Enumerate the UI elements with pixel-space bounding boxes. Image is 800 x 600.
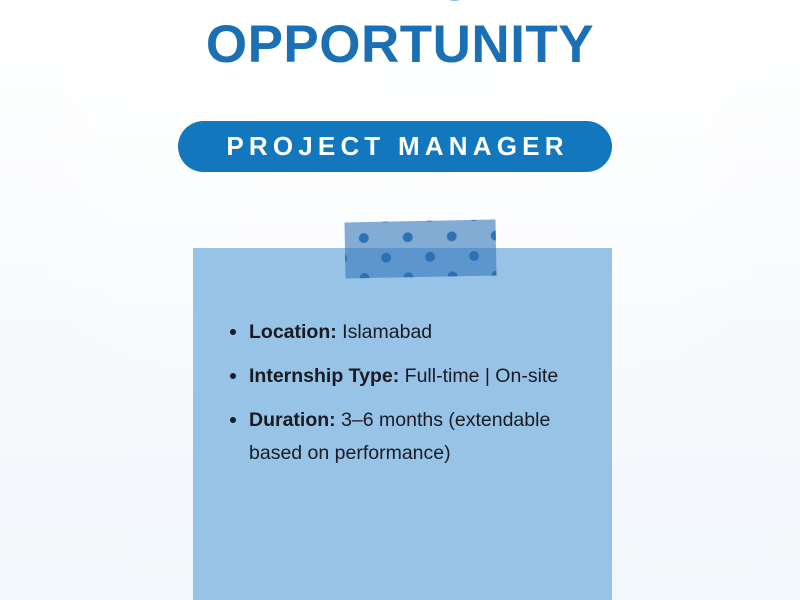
- washi-tape-dots: [344, 220, 496, 279]
- heading-line-internship: INTERNSHIP: [0, 0, 800, 9]
- bullet-dot-icon: [230, 417, 236, 423]
- role-title-pill: PROJECT MANAGER: [178, 121, 612, 172]
- bullet-dot-icon: [230, 329, 236, 335]
- heading-line-opportunity: OPPORTUNITY: [0, 18, 800, 71]
- detail-label-duration: Duration:: [249, 409, 336, 431]
- detail-value-location: Islamabad: [342, 321, 432, 343]
- poster-heading: INTERNSHIP OPPORTUNITY: [0, 0, 800, 71]
- internship-details-list: Location: Islamabad Internship Type: Ful…: [228, 316, 568, 470]
- detail-item-location: Location: Islamabad: [228, 316, 568, 349]
- detail-label-location: Location:: [249, 321, 337, 343]
- detail-item-internship-type: Internship Type: Full-time | On-site: [228, 360, 568, 393]
- washi-tape-decoration: [344, 220, 496, 279]
- detail-value-internship-type: Full-time | On-site: [405, 365, 559, 387]
- poster-canvas: INTERNSHIP OPPORTUNITY PROJECT MANAGER L…: [0, 0, 800, 600]
- bullet-dot-icon: [230, 373, 236, 379]
- detail-item-duration: Duration: 3–6 months (extendable based o…: [228, 404, 568, 470]
- role-title-label: PROJECT MANAGER: [221, 131, 568, 162]
- detail-label-internship-type: Internship Type:: [249, 365, 399, 387]
